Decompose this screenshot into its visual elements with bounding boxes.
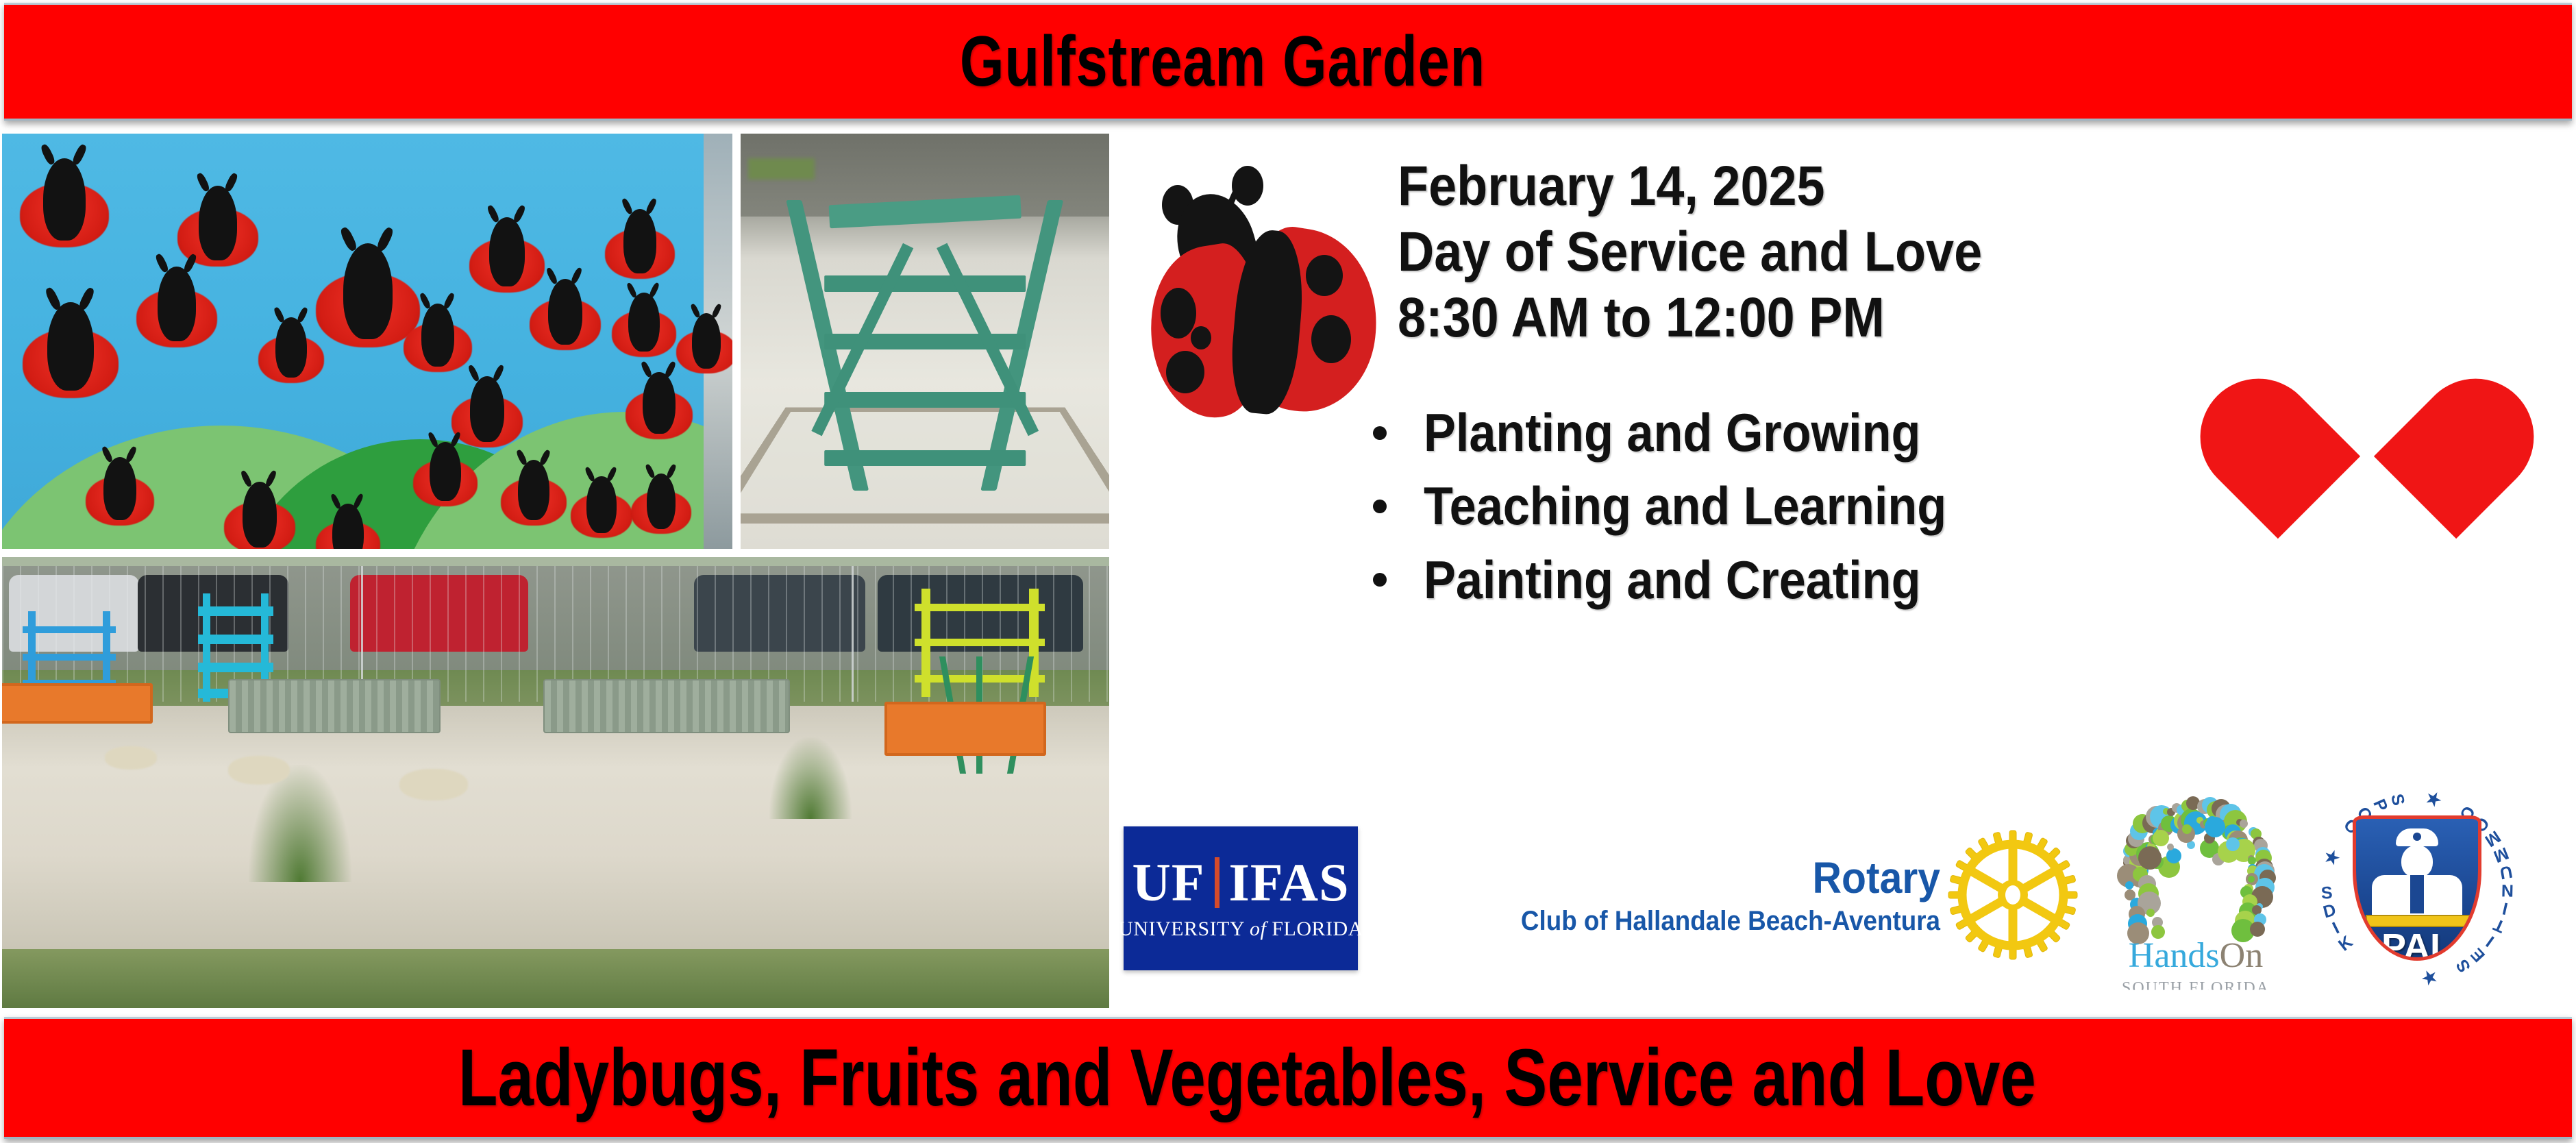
bullet-icon [1373,573,1387,587]
mural-ladybug [501,460,567,526]
handson-logo: HandsOn SOUTH FLORIDA [2111,787,2280,1013]
rotary-wordmark: Rotary [1474,852,1940,903]
mural-ladybug [258,317,324,383]
photo-trellis [739,132,1111,551]
uf-subtitle-suffix: FLORIDA [1266,918,1363,940]
rotary-logo: Rotary Club of Hallandale Beach-Aventura [1433,852,1940,937]
orange-planter [884,702,1046,756]
mural-ladybug [86,457,154,526]
orange-planter [0,683,153,724]
mural-ladybug [451,376,523,447]
mural-ladybug [136,267,217,347]
rotary-club-name: Club of Hallandale Beach-Aventura [1474,906,1940,937]
mural-ladybug [413,442,478,506]
event-details: February 14, 2025 Day of Service and Lov… [1398,153,2047,351]
rock [228,756,290,785]
a-frame-trellis [810,200,1039,491]
mural-ladybug [626,372,693,439]
raised-bed [543,679,790,733]
event-time: 8:30 AM to 12:00 PM [1398,285,1982,351]
sponsor-logos: UF IFAS UNIVERSITY of FLORIDA Rotary Clu… [1124,780,2576,1006]
mural-ladybug [571,476,632,538]
event-header: February 14, 2025 Day of Service and Lov… [1151,153,2047,377]
uf-divider-bar [1215,857,1219,908]
list-item: Teaching and Learning [1373,476,2005,536]
mural-ladybug [676,313,734,373]
list-item: Planting and Growing [1373,403,2005,463]
mural-ladybug [224,482,295,551]
activity-label: Teaching and Learning [1424,476,1946,536]
mural-ladybug [605,209,675,279]
trellis-grass [748,158,815,179]
mural-ladybug [20,158,109,247]
foreground-grass [2,949,1109,1008]
mural-ladybug [530,279,601,350]
page-title: Gulfstream Garden [960,21,1485,103]
tagline: Ladybugs, Fruits and Vegetables, Service… [458,1031,2035,1124]
event-subtitle: Day of Service and Love [1398,219,1982,285]
activities-list: Planting and Growing Teaching and Learni… [1373,403,2005,624]
pal-shield-icon: PAL [2353,815,2481,961]
mural-ladybug [23,302,119,398]
heart-icon [2261,354,2473,559]
uf-subtitle-of: of [1250,918,1266,940]
uf-text: UF [1132,856,1205,909]
mural-ladybug [404,304,472,372]
mural-ladybug [316,504,380,551]
activity-label: Planting and Growing [1424,403,1920,463]
rock [105,746,157,770]
photo-collage [0,132,1111,1010]
handson-hand-icon [2111,787,2280,944]
ifas-text: IFAS [1229,856,1350,909]
event-date: February 14, 2025 [1398,153,1982,219]
bullet-icon [1373,426,1387,440]
mural-ladybug [631,474,691,534]
handson-wordmark: HandsOn [2111,935,2280,976]
mural-ladybug [177,186,258,267]
activity-label: Painting and Creating [1424,550,1920,610]
bullet-icon [1373,500,1387,513]
bottom-banner: Ladybugs, Fruits and Vegetables, Service… [4,1017,2572,1139]
pal-logo: KIDS★COPS★COMMUNITIES★ PAL [2314,780,2520,1006]
uf-ifas-logo: UF IFAS UNIVERSITY of FLORIDA [1124,826,1358,970]
handson-hands-text: Hands [2129,936,2220,975]
handson-subtitle: SOUTH FLORIDA [2111,979,2280,998]
pal-acronym: PAL [2356,926,2478,961]
ladybug-icon [1151,164,1377,377]
uf-ifas-wordmark: UF IFAS [1132,856,1350,909]
uf-subtitle: UNIVERSITY of FLORIDA [1118,918,1363,941]
handson-on-text: On [2220,936,2264,975]
raised-bed [228,679,441,733]
photo-garden-site [0,555,1111,1010]
list-item: Painting and Creating [1373,550,2005,610]
uf-subtitle-prefix: UNIVERSITY [1118,918,1250,940]
rock [399,769,468,800]
top-banner: Gulfstream Garden [4,3,2572,121]
planted-seedling [769,737,852,818]
rotary-gear-icon [1944,826,2081,963]
photo-ladybug-mural [0,132,734,551]
mural-ladybug [612,293,676,357]
